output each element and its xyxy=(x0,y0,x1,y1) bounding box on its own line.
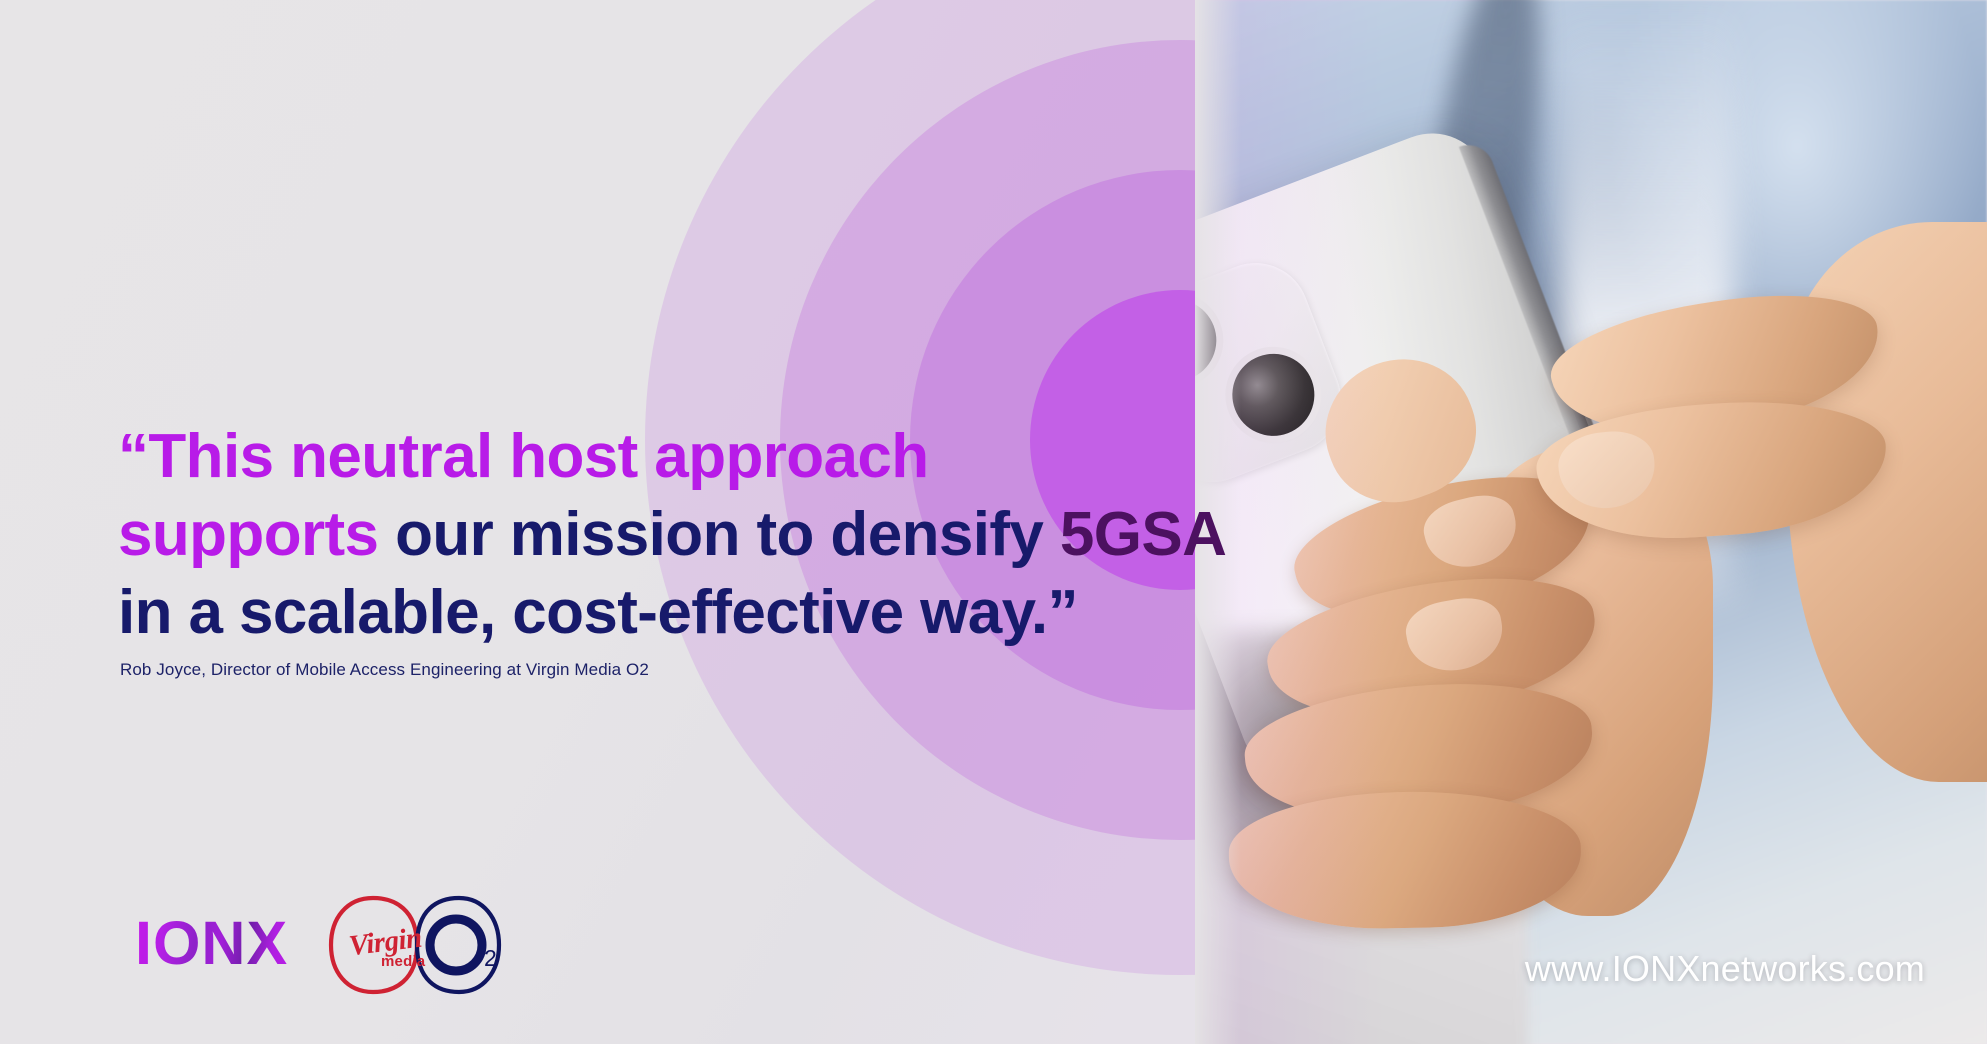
promo-banner: “This neutral host approach supports our… xyxy=(0,0,1987,1044)
finger-little xyxy=(1228,789,1582,931)
website-url[interactable]: www.IONXnetworks.com xyxy=(1525,948,1925,990)
o2-subscript-digit: 2 xyxy=(484,936,496,980)
camera-lens-primary xyxy=(1195,287,1228,393)
quote-line-1: “This neutral host approach xyxy=(118,418,1298,496)
virgin-media-o2-logo: Virgin media 2 xyxy=(325,890,505,1000)
pointing-hand xyxy=(1537,262,1987,782)
ionx-logo: IONX xyxy=(135,912,315,974)
quote-line-3: in a scalable, cost-effective way.” xyxy=(118,574,1298,652)
quote-line-2: supports our mission to densify 5GSA xyxy=(118,496,1298,574)
pull-quote: “This neutral host approach supports our… xyxy=(118,418,1298,652)
quote-line-1-text: “This neutral host approach xyxy=(118,422,929,491)
hero-photo xyxy=(1195,0,1987,1044)
quote-line-2-body: our mission to densify xyxy=(378,500,1059,569)
quote-accent-supports: supports xyxy=(118,500,378,569)
media-word: media xyxy=(381,953,425,970)
quote-attribution: Rob Joyce, Director of Mobile Access Eng… xyxy=(120,660,649,680)
ionx-wordmark: IONX xyxy=(135,912,315,974)
quote-line-3-text: in a scalable, cost-effective way.” xyxy=(118,578,1078,647)
photo-content xyxy=(1195,0,1987,1044)
quote-chip-5gsa: 5GSA xyxy=(1060,500,1226,569)
